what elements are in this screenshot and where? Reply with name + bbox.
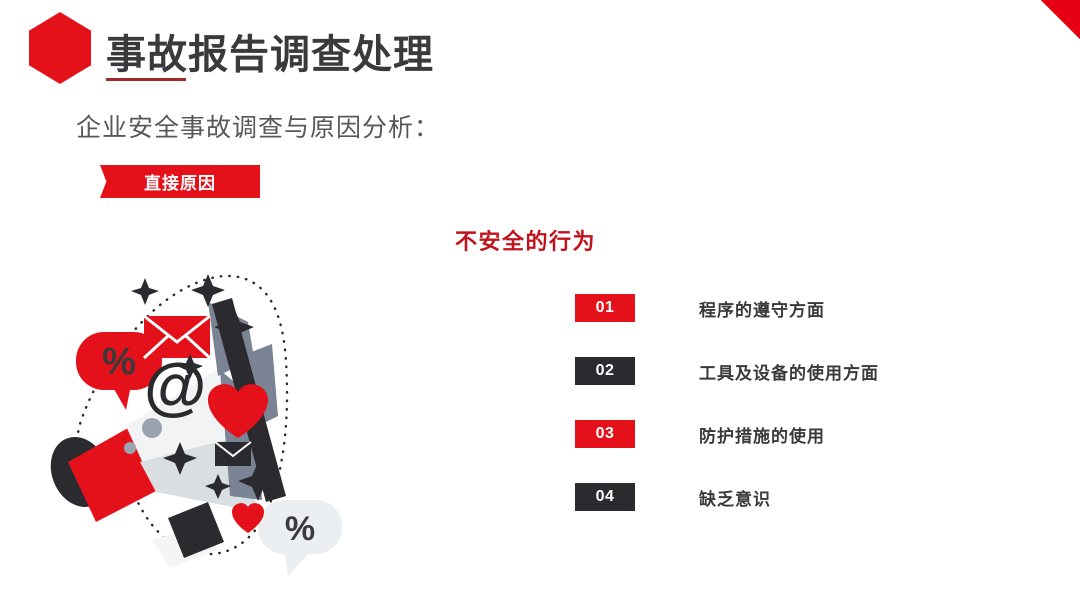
corner-ribbon-decoration	[936, 0, 1080, 57]
gray-bubble-percent-label: %	[285, 510, 315, 548]
gray-bubble-tail	[284, 548, 312, 576]
red-bubble-percent-label: %	[102, 341, 136, 383]
list-item[interactable]: 03 防护措施的使用	[575, 420, 1015, 448]
item-number-badge: 04	[575, 483, 635, 511]
gray-percent-bubble: %	[258, 500, 342, 576]
slide-canvas: 事故报告调查处理 企业安全事故调查与原因分析： 直接原因 不安全的行为 01 程…	[0, 0, 1080, 608]
item-label: 防护措施的使用	[699, 422, 825, 447]
list-item[interactable]: 04 缺乏意识	[575, 483, 1015, 511]
hexagon-bullet-icon	[29, 12, 91, 84]
title-underline	[106, 78, 186, 81]
item-label: 缺乏意识	[699, 485, 771, 510]
section-heading: 不安全的行为	[455, 224, 596, 256]
item-label: 工具及设备的使用方面	[699, 359, 879, 384]
page-title: 事故报告调查处理	[106, 22, 434, 80]
red-bubble-tail	[110, 380, 132, 410]
page-subtitle: 企业安全事故调查与原因分析：	[76, 108, 440, 144]
list-item[interactable]: 01 程序的遵守方面	[575, 294, 1015, 322]
envelope-dark-icon	[215, 442, 251, 466]
megaphone-illustration: % % @	[40, 250, 460, 580]
item-number-badge: 03	[575, 420, 635, 448]
megaphone-dot-small	[124, 442, 136, 454]
item-label: 程序的遵守方面	[699, 296, 825, 321]
at-sign-icon: @	[144, 350, 206, 422]
list-item[interactable]: 02 工具及设备的使用方面	[575, 357, 1015, 385]
direct-cause-tag: 直接原因	[100, 165, 260, 198]
item-number-badge: 01	[575, 294, 635, 322]
direct-cause-tag-label: 直接原因	[144, 169, 216, 194]
cause-item-list: 01 程序的遵守方面 02 工具及设备的使用方面 03 防护措施的使用 04 缺…	[575, 294, 1015, 546]
item-number-badge: 02	[575, 357, 635, 385]
